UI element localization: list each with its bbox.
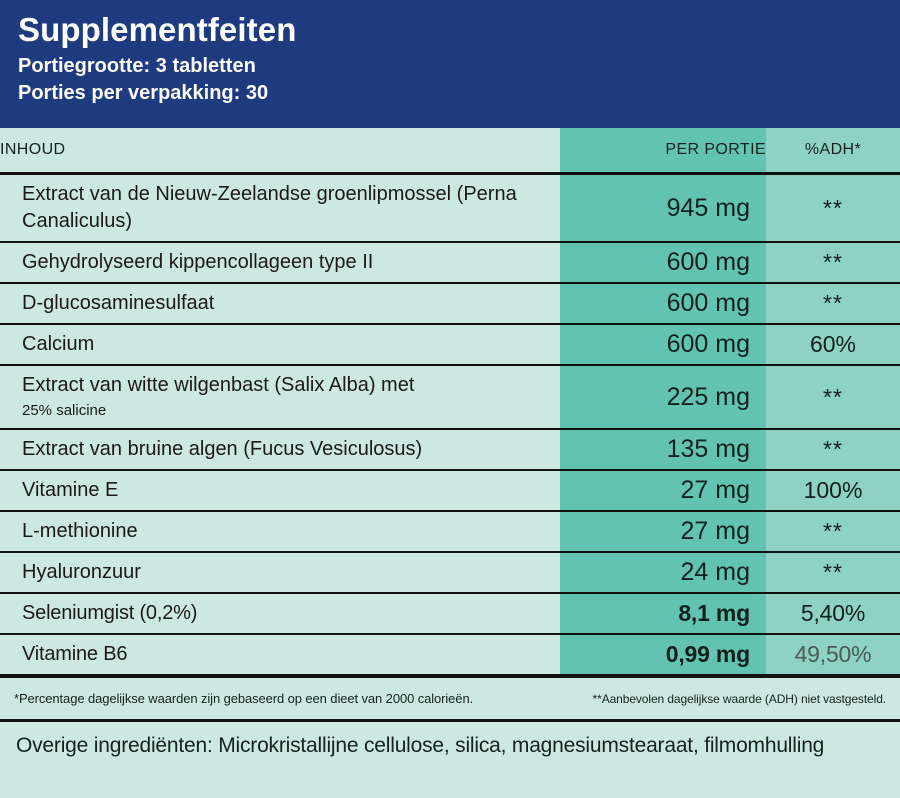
table-row: Gehydrolyseerd kippencollageen type II 6… — [0, 242, 900, 283]
ingredient-name: Gehydrolyseerd kippencollageen type II — [0, 242, 560, 283]
footnote-no-rda: **Aanbevolen dagelijkse waarde (ADH) nie… — [593, 692, 886, 706]
ingredient-daily-value: ** — [766, 174, 900, 243]
ingredient-name-text: Extract van witte wilgenbast (Salix Alba… — [22, 374, 414, 396]
ingredient-daily-value: ** — [766, 283, 900, 324]
ingredient-daily-value: 60% — [766, 324, 900, 365]
ingredient-daily-value: 49,50% — [766, 634, 900, 675]
table-row: Hyaluronzuur 24 mg ** — [0, 552, 900, 593]
ingredient-amount: 27 mg — [560, 511, 766, 552]
table-body: Extract van de Nieuw-Zeelandse groenlipm… — [0, 174, 900, 676]
ingredient-name: Vitamine E — [0, 470, 560, 511]
table-row: Calcium 600 mg 60% — [0, 324, 900, 365]
ingredient-amount: 600 mg — [560, 283, 766, 324]
ingredient-name: Vitamine B6 — [0, 634, 560, 675]
table-row: Seleniumgist (0,2%) 8,1 mg 5,40% — [0, 593, 900, 634]
ingredient-sub-note: 25% salicine — [22, 400, 546, 422]
serving-size-text: Portiegrootte: 3 tabletten — [18, 53, 882, 80]
ingredient-amount: 225 mg — [560, 365, 766, 429]
label-header: Supplementfeiten Portiegrootte: 3 tablet… — [0, 0, 900, 128]
ingredient-name: Extract van witte wilgenbast (Salix Alba… — [0, 365, 560, 429]
ingredient-amount: 27 mg — [560, 470, 766, 511]
ingredient-name: Extract van bruine algen (Fucus Vesiculo… — [0, 429, 560, 470]
ingredient-daily-value: ** — [766, 242, 900, 283]
servings-per-container-text: Porties per verpakking: 30 — [18, 80, 882, 107]
table-row: L-methionine 27 mg ** — [0, 511, 900, 552]
ingredient-daily-value: 5,40% — [766, 593, 900, 634]
ingredient-name: Extract van de Nieuw-Zeelandse groenlipm… — [0, 174, 560, 243]
table-row: Extract van bruine algen (Fucus Vesiculo… — [0, 429, 900, 470]
table-row: Extract van de Nieuw-Zeelandse groenlipm… — [0, 174, 900, 243]
table-header-row: INHOUD PER PORTIE %ADH* — [0, 128, 900, 174]
ingredient-name: L-methionine — [0, 511, 560, 552]
ingredient-name: D-glucosaminesulfaat — [0, 283, 560, 324]
ingredient-name: Seleniumgist (0,2%) — [0, 593, 560, 634]
ingredient-daily-value: ** — [766, 429, 900, 470]
ingredient-name: Calcium — [0, 324, 560, 365]
column-header-inhoud: INHOUD — [0, 128, 560, 174]
ingredient-daily-value: ** — [766, 552, 900, 593]
page-title: Supplementfeiten — [18, 10, 882, 50]
ingredient-amount: 600 mg — [560, 324, 766, 365]
table-row: Extract van witte wilgenbast (Salix Alba… — [0, 365, 900, 429]
other-ingredients-text: Overige ingrediënten: Microkristallijne … — [0, 722, 900, 772]
ingredient-amount: 24 mg — [560, 552, 766, 593]
table-row: Vitamine E 27 mg 100% — [0, 470, 900, 511]
column-header-per-portie: PER PORTIE — [560, 128, 766, 174]
ingredient-daily-value: ** — [766, 511, 900, 552]
ingredient-amount: 8,1 mg — [560, 593, 766, 634]
footnotes-row: *Percentage dagelijkse waarden zijn geba… — [0, 676, 900, 722]
ingredient-daily-value: ** — [766, 365, 900, 429]
table-row: Vitamine B6 0,99 mg 49,50% — [0, 634, 900, 675]
footnote-daily-value: *Percentage dagelijkse waarden zijn geba… — [14, 691, 473, 706]
supplement-facts-table: INHOUD PER PORTIE %ADH* Extract van de N… — [0, 128, 900, 676]
ingredient-name: Hyaluronzuur — [0, 552, 560, 593]
ingredient-amount: 135 mg — [560, 429, 766, 470]
ingredient-amount: 600 mg — [560, 242, 766, 283]
column-header-adh: %ADH* — [766, 128, 900, 174]
table-row: D-glucosaminesulfaat 600 mg ** — [0, 283, 900, 324]
ingredient-amount: 0,99 mg — [560, 634, 766, 675]
ingredient-amount: 945 mg — [560, 174, 766, 243]
supplement-facts-label: Supplementfeiten Portiegrootte: 3 tablet… — [0, 0, 900, 798]
ingredient-daily-value: 100% — [766, 470, 900, 511]
